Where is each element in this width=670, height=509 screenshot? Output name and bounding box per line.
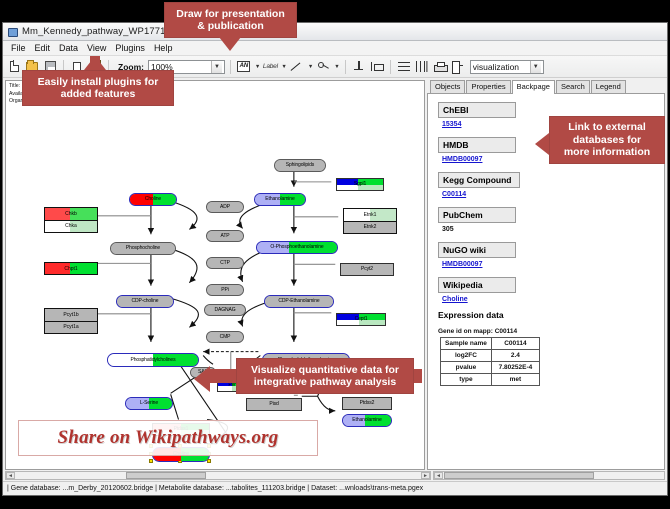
pathway-node-label: Phosphocholine [126,246,160,251]
status-bar: | Gene database: ...m_Derby_20120602.bri… [3,481,667,495]
visualization-value: visualization [473,62,530,72]
pathway-canvas[interactable]: Title: Availa Organi [6,81,424,469]
menu-help[interactable]: Help [150,42,177,54]
pathway-node-ctp[interactable]: CTP [206,257,244,269]
pathway-gene-row[interactable]: Chpt1 [45,263,97,274]
scroll-thumb[interactable] [126,472,206,479]
tab-legend[interactable]: Legend [591,80,626,93]
database-header-nugo-wiki: NuGO wiki [438,242,516,258]
pathway-node-label: ADP [220,205,230,210]
pathway-gene-row[interactable]: Pcyt1b [45,309,97,322]
tab-search[interactable]: Search [556,80,590,93]
pathway-node-label: CDP-choline [132,299,159,304]
callout-draw: Draw for presentation& publication [164,2,297,38]
callout-draw-arrow-icon [219,37,241,51]
interaction-tool-icon[interactable] [315,59,331,75]
pathway-node-atp[interactable]: ATP [206,230,244,242]
tab-properties[interactable]: Properties [466,80,510,93]
pathway-node-phosphocholine[interactable]: Phosphocholine [110,242,176,255]
pathway-gene-label: Cept1 [355,317,368,322]
callout-share: Share on Wikipathways.org [18,420,318,456]
callout-plugins-text: Easily install plugins foradded features [38,76,159,101]
expression-data-table: Sample nameC00114log2FC2.4pvalue7.80252E… [440,337,540,386]
menu-file[interactable]: File [7,42,30,54]
canvas-hscrollbar[interactable]: ◄ ► [5,471,431,480]
pathway-gene-cept1[interactable]: Cept1 [336,313,386,326]
expression-field-value: C00114 [491,338,539,350]
pathway-gene-label: Chpt1 [64,266,77,272]
pathway-node-label: CDP-Ethanolamine [278,299,319,304]
expression-field-name: type [441,374,492,386]
toolbar-separator [390,60,391,74]
callout-links-arrow-icon [535,133,549,155]
pathway-gene-row[interactable]: Chkb [45,208,97,221]
pathway-node-dagnag[interactable]: DAGNAG [204,304,246,316]
print-icon[interactable] [432,59,448,75]
pathway-node-ethanolamine-bottom[interactable]: Ethanolamine [342,414,392,427]
pathway-gene-stack-etnk-stack[interactable]: Etnk1Etnk2 [343,208,397,234]
pathway-node-choline-top[interactable]: Choline [129,193,177,206]
chevron-down-icon: ▼ [211,61,222,73]
visualization-select[interactable]: visualization ▼ [470,60,544,74]
gene-id-on-mapp: Gene id on mapp: C00114 [438,328,656,335]
pathway-node-l-serine-left[interactable]: L-Serine [125,397,173,410]
datanode-icon[interactable]: AN [236,59,252,75]
pathway-node-label: CMP [220,335,231,340]
side-panel-tabs: Objects Properties Backpage Search Legen… [427,80,665,94]
pathway-node-adp[interactable]: ADP [206,201,244,213]
expression-field-value: met [491,374,539,386]
pathway-node-cmp[interactable]: CMP [206,331,244,343]
callout-plugins-arrow-icon [84,56,106,70]
title-bar: Mm_Kennedy_pathway_WP1771_45176.gpml [3,23,667,41]
pathway-node-label: Sphingolipids [286,163,314,168]
anchor-icon[interactable] [351,59,367,75]
pathway-node-phosphatidylcholines[interactable]: Phosphatidylcholines [107,353,199,367]
pathvisio-icon [7,26,18,37]
pathway-node-label: Phosphatidylcholines [131,358,176,363]
pathway-gene-label: Etnk2 [364,224,377,230]
pathway-gene-label: Pcyt2 [361,267,373,272]
expression-field-name: log2FC [441,350,492,362]
toolbar-separator [345,60,346,74]
pathway-node-label: ATP [220,234,229,239]
menu-view[interactable]: View [83,42,110,54]
expression-field-value: 7.80252E-4 [491,362,539,374]
pathway-gene-row[interactable]: Chka [45,221,97,233]
toolbar-separator [230,60,231,74]
pathway-gene-fyt2[interactable]: Pcyt2 [340,263,394,276]
expression-field-name: Sample name [441,338,492,350]
pathway-gene-row[interactable]: Pcyt1a [45,322,97,334]
table-row: log2FC2.4 [441,350,540,362]
stack-rows-icon[interactable] [396,59,412,75]
tab-objects[interactable]: Objects [430,80,465,93]
database-link-nugo-wiki[interactable]: HMDB00097 [442,261,656,268]
database-header-hmdb: HMDB [438,137,516,153]
pathway-gene-row[interactable]: Etnk2 [344,222,396,234]
pathway-node-o-phosphoethanolamine[interactable]: O-Phosphoethanolamine [256,241,338,254]
horizontal-scroll-row: ◄ ► ◄ [3,470,667,481]
pathway-node-label: Choline [145,197,161,202]
callout-links-text: Link to externaldatabases formore inform… [564,121,650,159]
pathway-node-sphingolipids[interactable]: Sphingolipids [274,159,326,172]
database-header-kegg-compound: Kegg Compound [438,172,520,188]
callout-visualize-text: Visualize quantitative data forintegrati… [251,364,399,389]
pathway-gene-stack-chpt1-stack[interactable]: Chpt1 [44,262,98,275]
pathway-gene-label: Chka [65,223,77,229]
database-header-wikipedia: Wikipedia [438,277,516,293]
pathway-node-label: L-Serine [140,401,158,406]
pathway-gene-stack-chk-stack[interactable]: ChkbChka [44,207,98,233]
menu-edit[interactable]: Edit [31,42,55,54]
pathway-gene-sgpl1[interactable]: Sgpl1 [336,178,384,191]
interaction-dropdown-icon[interactable]: ▼ [334,64,339,70]
pathway-gene-row[interactable]: Etnk1 [344,209,396,222]
menu-data[interactable]: Data [55,42,82,54]
pathway-gene-pisd[interactable]: Pisd [246,398,302,411]
pathway-canvas-pane[interactable]: Title: Availa Organi [5,80,425,470]
table-row: pvalue7.80252E-4 [441,362,540,374]
pathway-node-label: DAGNAG [214,308,235,313]
database-header-chebi: ChEBI [438,102,516,118]
database-link-kegg-compound[interactable]: C00114 [442,191,656,198]
pathway-node-ethanolamine[interactable]: Ethanolamine [254,193,306,206]
backpage-hscrollbar[interactable]: ◄ [433,471,665,480]
pathway-gene-label: Sgpl1 [354,182,366,187]
callout-links: Link to externaldatabases formore inform… [549,116,665,164]
database-value-pubchem: 305 [442,226,656,233]
pathway-node-cdp-choline[interactable]: CDP-choline [116,295,174,308]
pathway-gene-ptdss2[interactable]: Ptdss2 [342,397,392,410]
pathway-gene-label: Ptdss2 [360,401,375,406]
pathway-gene-label: Pcyt1a [63,324,78,330]
expression-field-name: pvalue [441,362,492,374]
pathway-node-label: Ethanolamine [352,418,381,423]
line-dropdown-icon[interactable]: ▼ [308,64,313,70]
database-link-wikipedia[interactable]: Choline [442,296,656,303]
pathway-gene-label: Pcyt1b [63,312,78,318]
pathway-gene-stack-pcyt1-stack[interactable]: Pcyt1bPcyt1a [44,308,98,334]
database-header-pubchem: PubChem [438,207,516,223]
table-row: typemet [441,374,540,386]
callout-visualize: Visualize quantitative data forintegrati… [236,358,414,394]
label-dropdown-icon[interactable]: ▼ [281,64,286,70]
scroll-left-icon[interactable]: ◄ [434,472,443,479]
pathway-gene-label: Chkb [65,211,77,217]
new-document-icon[interactable] [6,59,22,75]
label-glyph: Label [263,63,278,70]
expression-field-value: 2.4 [491,350,539,362]
callout-draw-text: Draw for presentation& publication [176,8,285,33]
menu-bar: File Edit Data View Plugins Help [3,41,667,56]
pathway-node-label: PPi [221,288,228,293]
line-tool-icon[interactable] [289,59,305,75]
table-row: Sample nameC00114 [441,338,540,350]
datanode-dropdown-icon[interactable]: ▼ [255,64,260,70]
pathway-node-label: Ethanolamine [265,197,294,202]
pathway-gene-label: Etnk1 [364,212,377,218]
tab-backpage[interactable]: Backpage [512,80,555,94]
label-icon[interactable]: Label [262,59,278,75]
chevron-down-icon: ▼ [530,61,541,73]
callout-visualize-arrow-icon [194,366,210,392]
scroll-right-icon[interactable]: ► [421,472,430,479]
align-left-icon[interactable] [369,59,385,75]
pathway-node-label: O-Phosphoethanolamine [270,245,323,250]
callout-share-text: Share on Wikipathways.org [58,427,279,449]
pathway-node-cdp-ethanolamine[interactable]: CDP-Ethanolamine [264,295,334,308]
expression-data-heading: Expression data [438,310,656,320]
pathway-node-ppi[interactable]: PPi [206,284,244,296]
callout-plugins: Easily install plugins foradded features [22,70,174,106]
export-icon[interactable] [450,59,466,75]
distribute-columns-icon[interactable] [414,59,430,75]
status-text: | Gene database: ...m_Derby_20120602.bri… [7,485,423,492]
scroll-left-icon[interactable]: ◄ [6,472,15,479]
menu-plugins[interactable]: Plugins [111,42,149,54]
scroll-thumb[interactable] [444,472,594,479]
pathway-node-label: CTP [220,261,230,266]
callout-visualize-arrow-stem [208,369,238,383]
pathway-gene-label: Pisd [269,402,278,407]
